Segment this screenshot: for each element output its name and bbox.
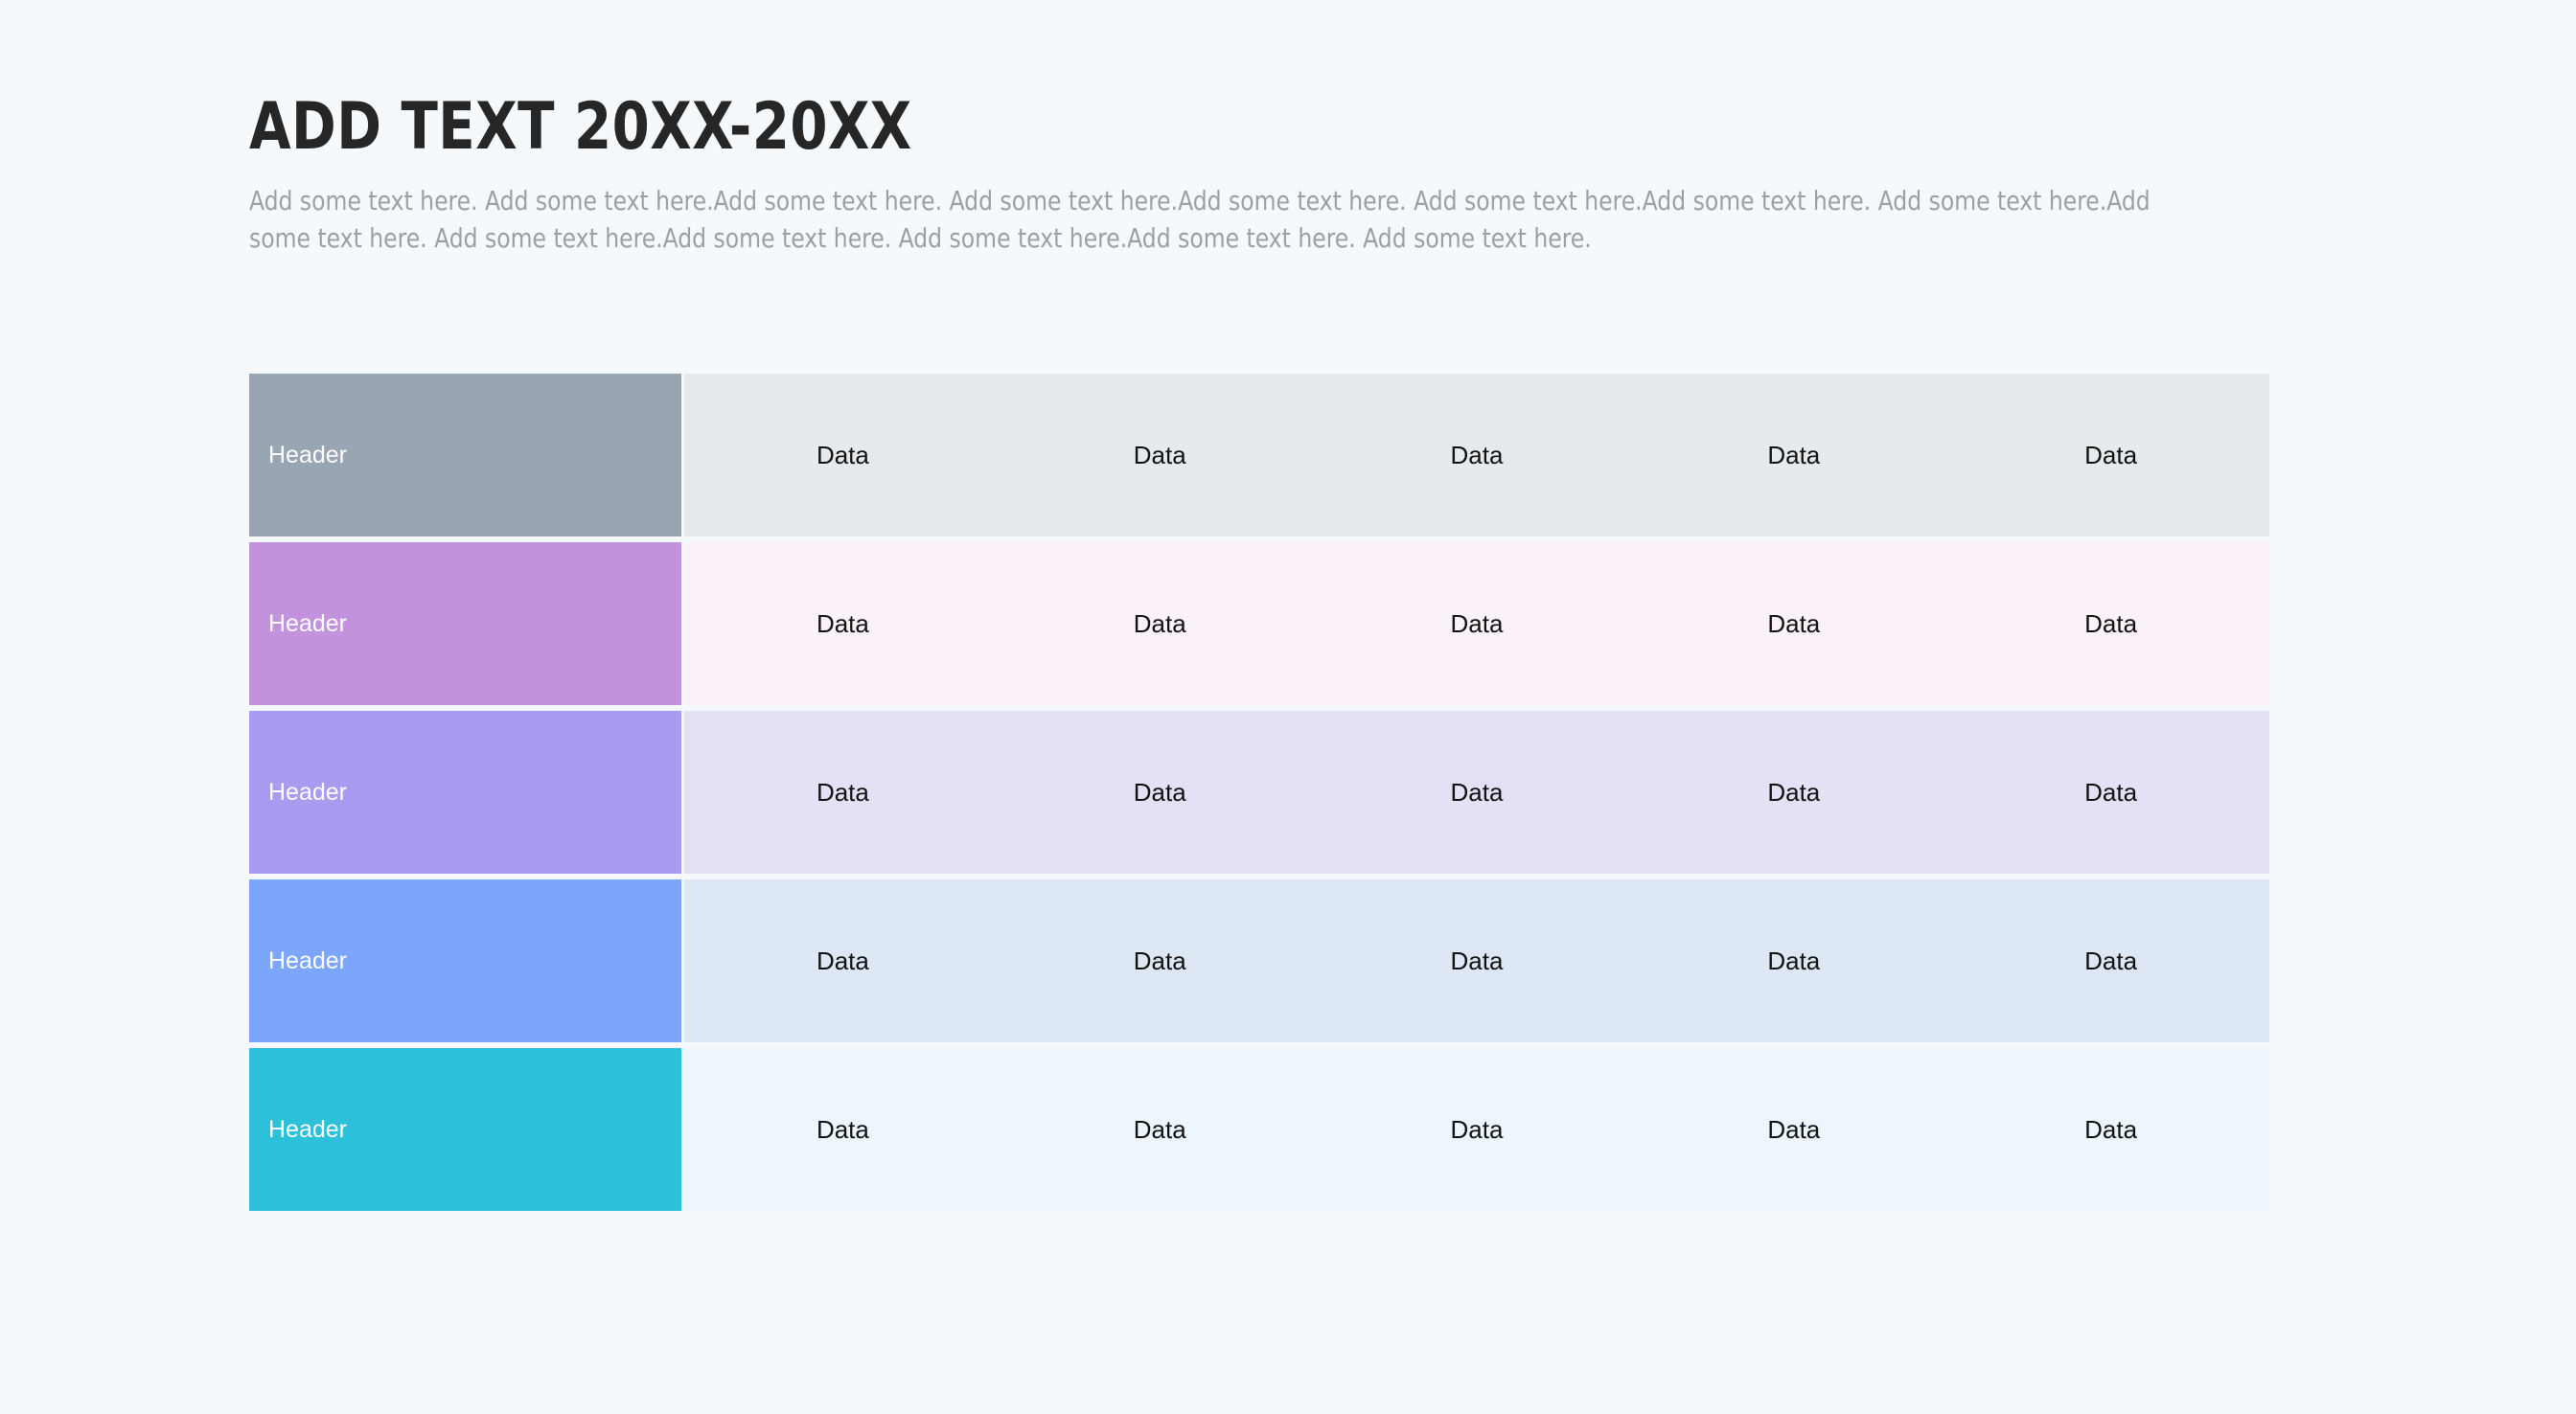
row-header-cell: Header [249, 542, 681, 705]
data-cell: Data [1635, 1117, 1952, 1142]
slide-canvas: ADD TEXT 20XX-20XX Add some text here. A… [0, 0, 2576, 1414]
row-header-label: Header [268, 444, 347, 468]
row-header-label: Header [268, 1118, 347, 1142]
data-cell: Data [684, 948, 1001, 973]
table-row: Header Data Data Data Data Data [249, 1048, 2269, 1211]
row-data-area: Data Data Data Data Data [684, 1048, 2269, 1211]
row-header-cell: Header [249, 374, 681, 536]
data-cell: Data [1952, 948, 2269, 973]
data-cell: Data [1001, 780, 1319, 805]
row-data-area: Data Data Data Data Data [684, 542, 2269, 705]
data-cell: Data [1319, 443, 1636, 468]
row-header-cell: Header [249, 879, 681, 1042]
data-cell: Data [1952, 1117, 2269, 1142]
row-data-area: Data Data Data Data Data [684, 879, 2269, 1042]
data-cell: Data [684, 443, 1001, 468]
header-block: ADD TEXT 20XX-20XX Add some text here. A… [249, 92, 2271, 259]
row-data-area: Data Data Data Data Data [684, 374, 2269, 536]
data-cell: Data [1635, 948, 1952, 973]
data-cell: Data [1319, 948, 1636, 973]
data-cell: Data [684, 611, 1001, 636]
data-cell: Data [1952, 443, 2269, 468]
data-cell: Data [1001, 1117, 1319, 1142]
row-header-cell: Header [249, 1048, 681, 1211]
data-cell: Data [1635, 780, 1952, 805]
data-cell: Data [684, 780, 1001, 805]
row-header-label: Header [268, 949, 347, 973]
data-cell: Data [1952, 780, 2269, 805]
table-row: Header Data Data Data Data Data [249, 542, 2269, 705]
table-row: Header Data Data Data Data Data [249, 711, 2269, 874]
data-table: Header Data Data Data Data Data Header D… [249, 374, 2269, 1211]
data-cell: Data [1319, 780, 1636, 805]
data-cell: Data [1319, 1117, 1636, 1142]
data-cell: Data [1319, 611, 1636, 636]
row-header-cell: Header [249, 711, 681, 874]
data-cell: Data [1952, 611, 2269, 636]
row-header-label: Header [268, 612, 347, 636]
table-row: Header Data Data Data Data Data [249, 374, 2269, 536]
row-data-area: Data Data Data Data Data [684, 711, 2269, 874]
data-cell: Data [1001, 948, 1319, 973]
data-cell: Data [1635, 443, 1952, 468]
table-row: Header Data Data Data Data Data [249, 879, 2269, 1042]
data-cell: Data [1001, 443, 1319, 468]
data-cell: Data [684, 1117, 1001, 1142]
data-cell: Data [1635, 611, 1952, 636]
data-cell: Data [1001, 611, 1319, 636]
row-header-label: Header [268, 781, 347, 805]
page-subtitle: Add some text here. Add some text here.A… [249, 183, 2207, 258]
page-title: ADD TEXT 20XX-20XX [249, 92, 2109, 162]
